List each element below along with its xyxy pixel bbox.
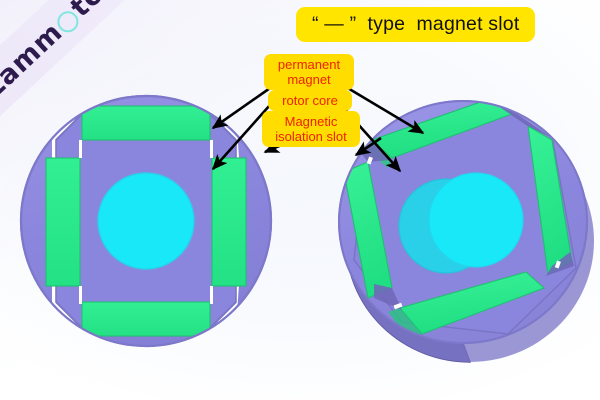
right-rotor-shaft-bore	[429, 173, 523, 267]
magnet-top	[82, 106, 210, 140]
magnet-bottom	[82, 302, 210, 336]
magnet-right	[212, 158, 246, 286]
magnet-left	[46, 158, 80, 286]
right-rotor-diagram	[330, 76, 600, 376]
callout-magnetic-isolation-slot: Magnetic isolation slot	[262, 111, 360, 147]
left-rotor-shaft-bore	[98, 173, 194, 269]
callout-rotor-core: rotor core	[268, 90, 352, 111]
figure-canvas: Lammtor	[0, 0, 600, 400]
figure-title: “ — ” type magnet slot	[296, 7, 535, 42]
callout-permanent-magnet: permanent magnet	[264, 54, 354, 90]
